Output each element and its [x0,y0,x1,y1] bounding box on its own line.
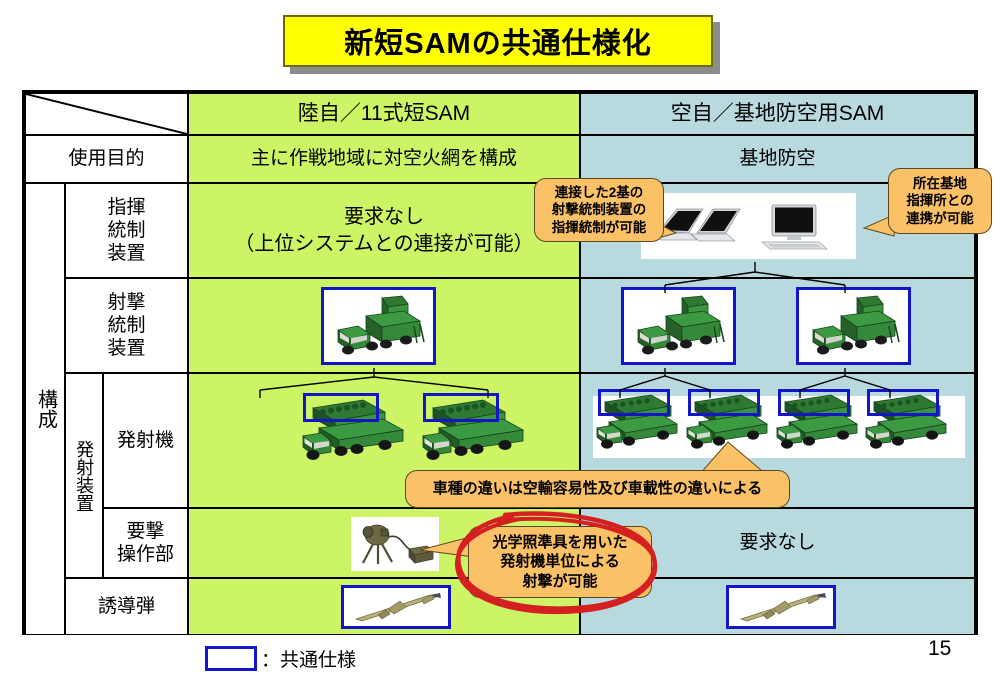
column-header-asdf-label: 空自／基地防空用SAM [671,101,885,127]
callout-vehicle-type: 車種の違いは空輸容易性及び車載性の違いによる [405,470,790,508]
row-label-intercept-operation: 要撃 操作部 [103,508,188,578]
callout-command-link: 連接した2基の 射撃統制装置の 指揮統制が可能 [534,178,664,242]
slide-title: 新短SAMの共通仕様化 [283,15,713,67]
callout-base-hq-l3: 連携が可能 [906,210,974,227]
cell-purpose-asdf-text: 基地防空 [739,147,815,171]
common-spec-box-launcher-asdf-3 [778,389,850,416]
fire-control-vehicle-graphic [799,290,908,362]
cell-intercept-asdf-text: 要求なし [739,531,815,555]
group-label-launch-system-text: 発射装置 [72,440,96,512]
row-label-launcher-text: 発射機 [117,429,174,453]
page-number: 15 [928,637,951,661]
missile-graphic [344,588,448,626]
row-label-fire-control-l3: 装置 [107,337,145,360]
row-label-purpose-text: 使用目的 [68,147,144,171]
callout-base-hq: 所在基地 指揮所との 連携が可能 [888,168,992,234]
common-spec-box-launcher-asdf-1 [598,389,670,416]
callout-vehicle-type-text: 車種の違いは空輸容易性及び車載性の違いによる [433,479,763,498]
cell-fire-control-gsdf [188,278,580,373]
common-spec-box-fc-asdf-2 [796,287,911,365]
group-label-composition-text: 構成 [32,389,59,429]
cell-command-control-gsdf-l2: （上位システムとの連接が可能） [234,231,533,258]
common-spec-box-launcher-gsdf-2 [423,393,499,422]
callout-optical-sight-l3: 射撃が可能 [492,572,627,591]
common-spec-box-launcher-gsdf-1 [303,393,379,422]
common-spec-box-missile-asdf [726,585,836,629]
page-title: 新短SAMの共通仕様化 [344,20,651,62]
column-header-asdf: 空自／基地防空用SAM [580,93,975,135]
callout-command-link-l1: 連接した2基の [552,184,647,201]
cell-fire-control-asdf [580,278,975,373]
common-spec-box-launcher-asdf-4 [867,389,939,416]
common-spec-box-fc-asdf-1 [621,287,736,365]
row-label-missile: 誘導弾 [65,578,188,635]
cell-command-control-gsdf-l1: 要求なし [234,204,533,231]
fire-control-vehicle-graphic [324,290,433,362]
row-label-missile-text: 誘導弾 [98,595,155,619]
column-header-gsdf-label: 陸自／11式短SAM [298,101,470,127]
row-label-command-control: 指揮 統制 装置 [65,183,188,278]
row-label-command-control-l2: 統制 [107,219,145,242]
title-box: 新短SAMの共通仕様化 [283,15,713,67]
group-label-composition: 構成 [25,183,65,635]
legend-common-spec-icon [205,646,257,671]
row-label-fire-control-l1: 射撃 [107,291,145,314]
fire-control-vehicle-graphic [624,290,733,362]
callout-optical-sight-l1: 光学照準具を用いた [492,533,627,552]
group-label-launch-system: 発射装置 [65,373,103,578]
common-spec-box-missile-gsdf [341,585,451,629]
row-label-fire-control: 射撃 統制 装置 [65,278,188,373]
callout-optical-sight: 光学照準具を用いた 発射機単位による 射撃が可能 [468,526,652,598]
table-corner-cell [25,93,188,135]
callout-base-hq-l2: 指揮所との [906,192,974,209]
row-label-command-control-l3: 装置 [107,242,145,265]
row-label-intercept-l2: 操作部 [117,543,174,566]
row-label-launcher: 発射機 [103,373,188,508]
column-header-gsdf: 陸自／11式短SAM [188,93,580,135]
missile-graphic [729,588,833,626]
row-label-fire-control-l2: 統制 [107,314,145,337]
row-label-purpose: 使用目的 [25,135,188,183]
cell-purpose-gsdf: 主に作戦地域に対空火網を構成 [188,135,580,183]
callout-command-link-l2: 射撃統制装置の [552,201,647,218]
cell-command-control-gsdf: 要求なし （上位システムとの連接が可能） [188,183,580,278]
common-spec-box-fc-gsdf-1 [321,287,436,365]
callout-command-link-l3: 指揮統制が可能 [552,219,647,236]
legend-label: ：共通仕様 [261,645,356,672]
corner-diagonal-line [26,94,187,134]
legend: ：共通仕様 [205,645,356,672]
row-label-command-control-l1: 指揮 [107,196,145,219]
cell-purpose-gsdf-text: 主に作戦地域に対空火網を構成 [251,147,517,171]
callout-optical-sight-l2: 発射機単位による [492,552,627,571]
row-label-intercept-l1: 要撃 [117,520,174,543]
callout-base-hq-l1: 所在基地 [906,175,974,192]
common-spec-box-launcher-asdf-2 [688,389,760,416]
